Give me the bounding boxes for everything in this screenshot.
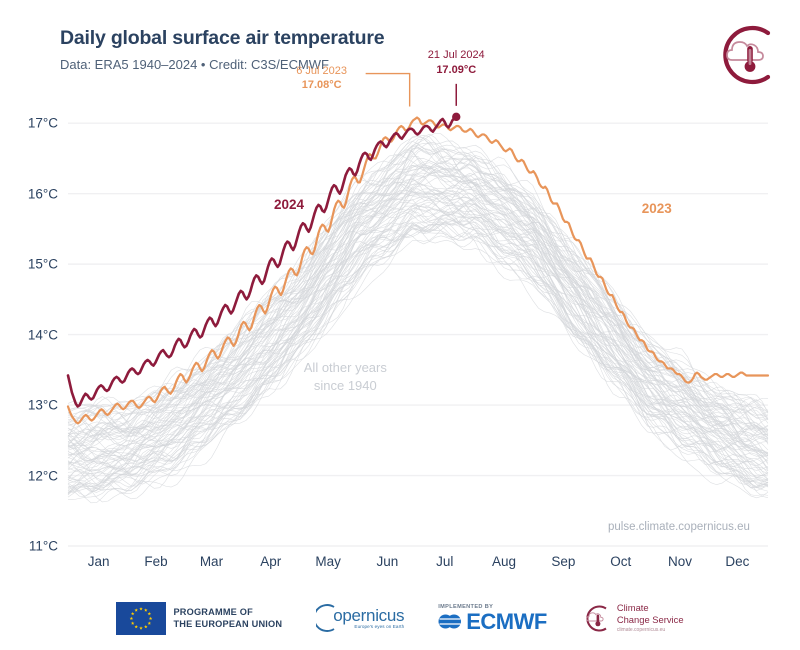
y-axis-tick-label: 17°C	[0, 116, 58, 131]
annotation-leaders	[68, 95, 768, 546]
y-axis-tick-label: 16°C	[0, 186, 58, 201]
chart-header: Daily global surface air temperature Dat…	[60, 26, 680, 73]
x-axis-tick-label: Jul	[436, 554, 453, 569]
x-axis-tick-label: Apr	[260, 554, 281, 569]
y-axis-tick-label: 14°C	[0, 327, 58, 342]
page-title: Daily global surface air temperature	[60, 26, 680, 50]
annotation-2023: 6 Jul 2023 17.08°C	[278, 64, 366, 94]
eu-logo-text: PROGRAMME OF THE EUROPEAN UNION	[173, 606, 282, 631]
x-axis-tick-label: Oct	[610, 554, 631, 569]
y-axis-tick-label: 12°C	[0, 468, 58, 483]
c3s-thermometer-icon	[581, 604, 610, 633]
x-axis-tick-label: Aug	[492, 554, 516, 569]
y-axis-tick-label: 11°C	[0, 539, 58, 554]
y-axis-tick-label: 13°C	[0, 398, 58, 413]
annotation-2024-date: 21 Jul 2024	[412, 48, 500, 63]
x-axis-tick-label: Mar	[200, 554, 223, 569]
c3s-logo: Climate Change Service climate.copernicu…	[581, 602, 684, 633]
x-axis-tick-label: Dec	[725, 554, 749, 569]
x-axis-tick-label: Nov	[668, 554, 692, 569]
copernicus-logo: opernicus Europe's eyes on Earth	[316, 603, 404, 633]
x-axis-tick-label: Jun	[377, 554, 399, 569]
c3s-url: climate.copernicus.eu	[617, 627, 684, 633]
chart-subtitle: Data: ERA5 1940–2024 • Credit: C3S/ECMWF	[60, 57, 680, 73]
annotation-2024: 21 Jul 2024 17.09°C	[412, 48, 500, 78]
annotation-2023-value: 17.08°C	[278, 78, 366, 93]
series-label-2024: 2024	[274, 197, 304, 212]
ecmwf-logo: IMPLEMENTED BY ECMWF	[438, 604, 547, 633]
leader-line-2023	[366, 74, 410, 107]
ensemble-label-line2: since 1940	[287, 377, 403, 395]
x-axis-tick-label: Feb	[144, 554, 167, 569]
eu-logo: PROGRAMME OF THE EUROPEAN UNION	[116, 602, 282, 635]
ensemble-label: All other years since 1940	[287, 359, 403, 394]
eu-flag-icon	[116, 602, 166, 635]
annotation-2024-value: 17.09°C	[412, 63, 500, 78]
copernicus-wordmark: opernicus	[333, 607, 404, 624]
ecmwf-wordmark: ECMWF	[466, 611, 547, 633]
annotation-2023-date: 6 Jul 2023	[278, 64, 366, 79]
watermark-url: pulse.climate.copernicus.eu	[608, 521, 750, 533]
copernicus-tagline: Europe's eyes on Earth	[354, 624, 404, 629]
chart-page: Daily global surface air temperature Dat…	[0, 0, 800, 650]
x-axis-tick-label: Sep	[551, 554, 575, 569]
c3s-line2: Change Service	[617, 614, 684, 626]
eu-logo-line1: PROGRAMME OF	[173, 606, 282, 618]
c3s-logo-text: Climate Change Service climate.copernicu…	[617, 602, 684, 633]
x-axis-tick-label: May	[315, 554, 341, 569]
plot-area	[68, 95, 768, 546]
y-axis-tick-label: 15°C	[0, 257, 58, 272]
eu-logo-line2: THE EUROPEAN UNION	[173, 618, 282, 630]
series-label-2023: 2023	[642, 201, 672, 216]
x-axis-tick-label: Jan	[88, 554, 110, 569]
cloud-thermometer-icon	[712, 22, 778, 88]
footer-logos: PROGRAMME OF THE EUROPEAN UNION opernicu…	[0, 592, 800, 644]
c3s-line1: Climate	[617, 602, 684, 614]
ecmwf-globe-icon	[438, 611, 463, 632]
ensemble-label-line1: All other years	[287, 359, 403, 377]
